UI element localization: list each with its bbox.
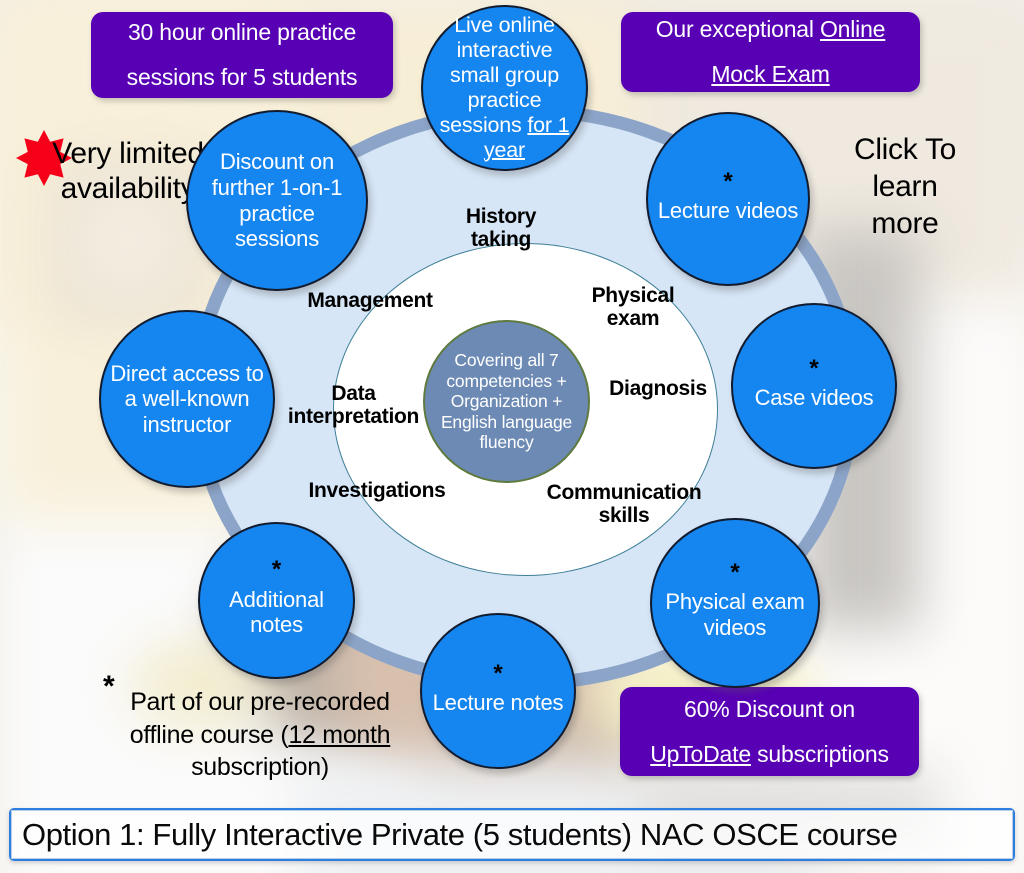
competency-investigations: Investigations xyxy=(287,480,467,503)
competency-diagnosis: Diagnosis xyxy=(592,378,724,401)
bubble-direct-access-instructor[interactable]: Direct access to a well-known instructor xyxy=(99,310,275,488)
asterisk-marker: * xyxy=(730,566,739,580)
competency-data-interpretation: Data interpretation xyxy=(256,383,451,428)
bubble-case-videos[interactable]: * Case videos xyxy=(731,303,897,469)
bubble-lecture-notes-label: Lecture notes xyxy=(425,690,572,716)
bubble-additional-notes-label: Additional notes xyxy=(200,587,353,638)
bubble-discount-further-practice[interactable]: Discount on further 1-on-1 practice sess… xyxy=(186,110,368,291)
bubble-physical-exam-videos[interactable]: * Physical exam videos xyxy=(650,518,820,688)
bubble-lecture-videos[interactable]: * Lecture videos xyxy=(646,112,810,286)
asterisk-marker: * xyxy=(272,563,281,577)
bubble-discount-label: Discount on further 1-on-1 practice sess… xyxy=(188,149,366,251)
asterisk-marker: * xyxy=(723,175,732,189)
competency-physical-exam: Physical exam xyxy=(557,285,709,330)
competency-communication-skills: Communication skills xyxy=(524,482,724,527)
bubble-case-videos-label: Case videos xyxy=(747,385,882,411)
osce-course-diagram: Covering all 7 competencies + Organizati… xyxy=(0,0,1024,873)
bubble-live-online[interactable]: Live online interactive small group prac… xyxy=(421,5,588,171)
competency-management: Management xyxy=(288,290,452,313)
bubble-direct-access-label: Direct access to a well-known instructor xyxy=(101,361,273,438)
bubble-lecture-notes[interactable]: * Lecture notes xyxy=(420,613,576,769)
bubble-lecture-videos-label: Lecture videos xyxy=(650,198,806,224)
bubble-live-online-label: Live online interactive small group prac… xyxy=(423,13,586,163)
bubble-physical-exam-videos-label: Physical exam videos xyxy=(652,589,818,640)
bubble-additional-notes[interactable]: * Additional notes xyxy=(198,522,355,679)
asterisk-marker: * xyxy=(809,362,818,376)
asterisk-marker: * xyxy=(493,667,502,681)
competency-history-taking: History taking xyxy=(426,206,576,251)
